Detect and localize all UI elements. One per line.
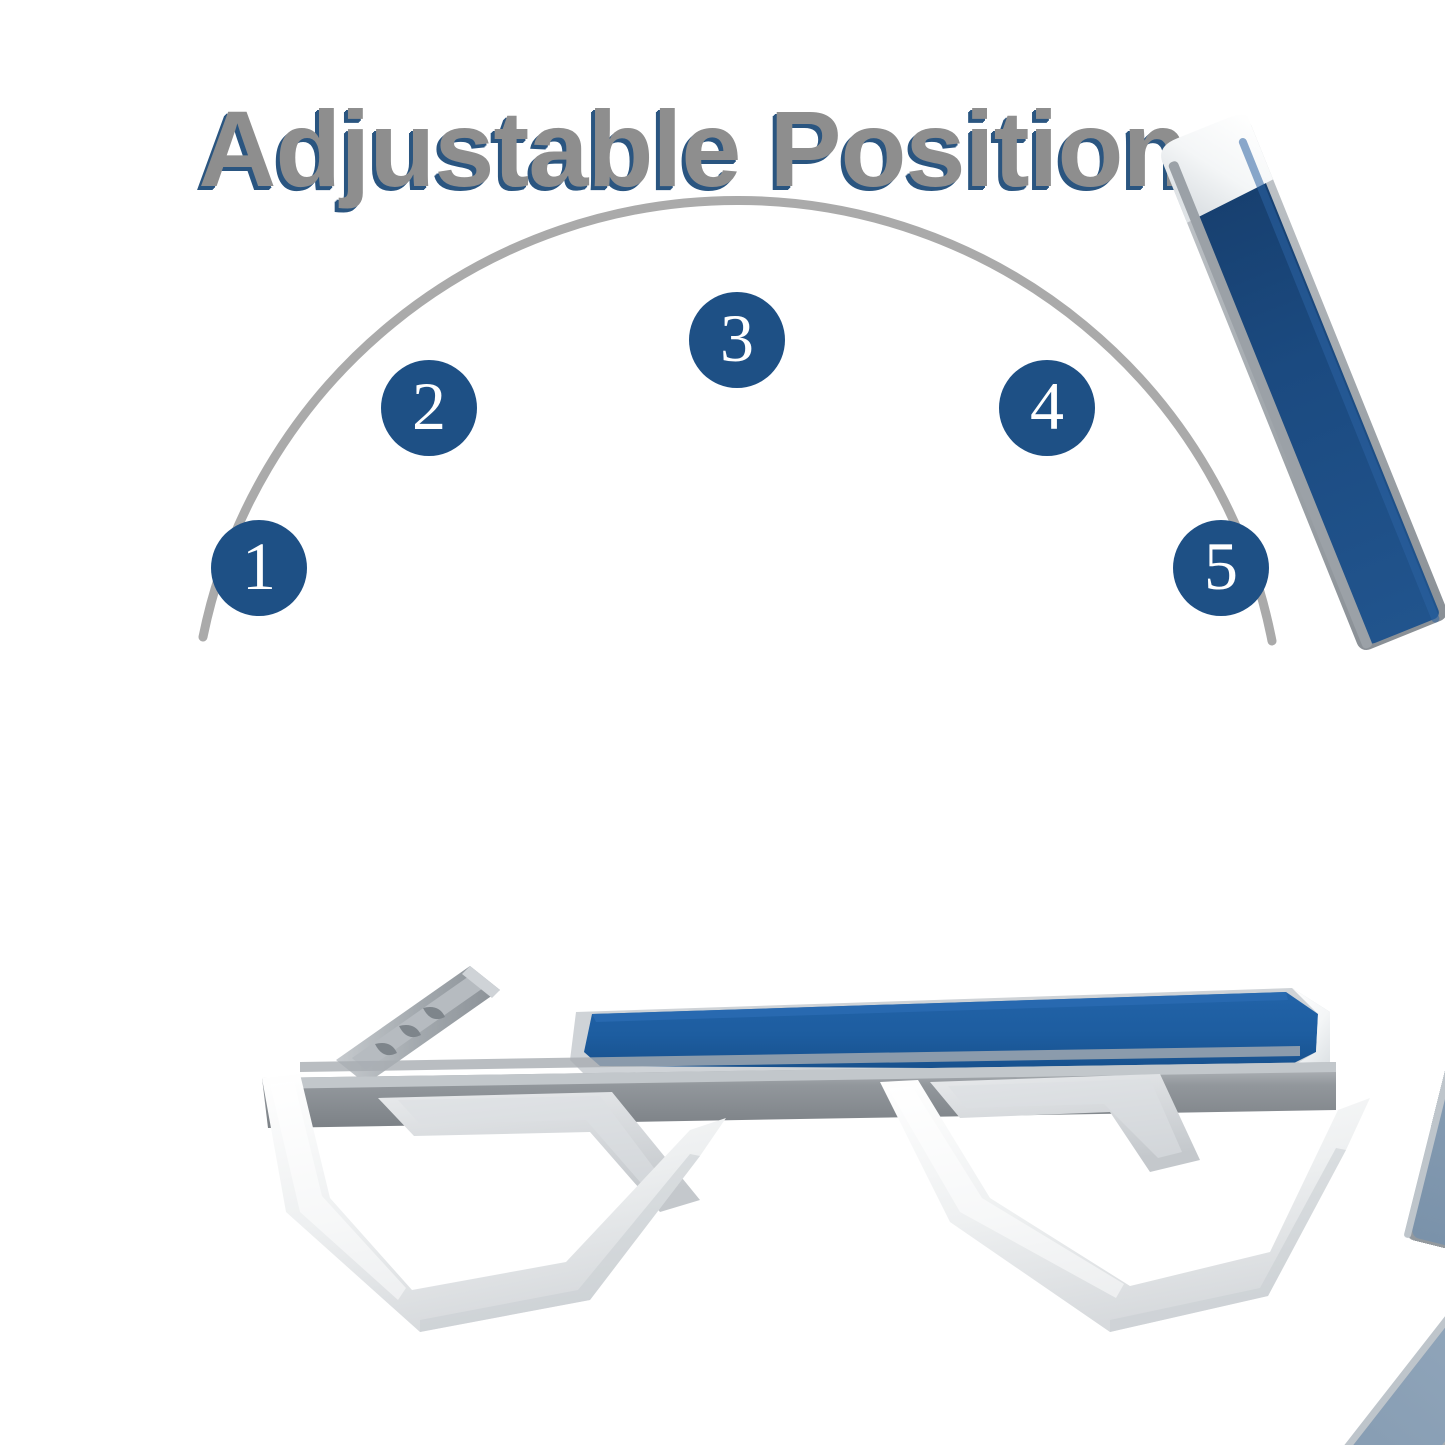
- position-badge-3[interactable]: 3: [689, 292, 785, 388]
- position-arc-layer: [0, 0, 1445, 1445]
- position-badge-3-label: 3: [720, 304, 754, 372]
- infographic-canvas: Adjustable Positions: [0, 0, 1445, 1445]
- position-badge-2[interactable]: 2: [381, 360, 477, 456]
- position-badge-4[interactable]: 4: [999, 360, 1095, 456]
- position-badge-5[interactable]: 5: [1173, 520, 1269, 616]
- position-badge-1[interactable]: 1: [211, 520, 307, 616]
- position-badge-2-label: 2: [412, 372, 446, 440]
- position-badge-4-label: 4: [1030, 372, 1064, 440]
- position-badge-5-label: 5: [1204, 532, 1238, 600]
- position-badge-1-label: 1: [242, 532, 276, 600]
- position-arc: [203, 200, 1272, 641]
